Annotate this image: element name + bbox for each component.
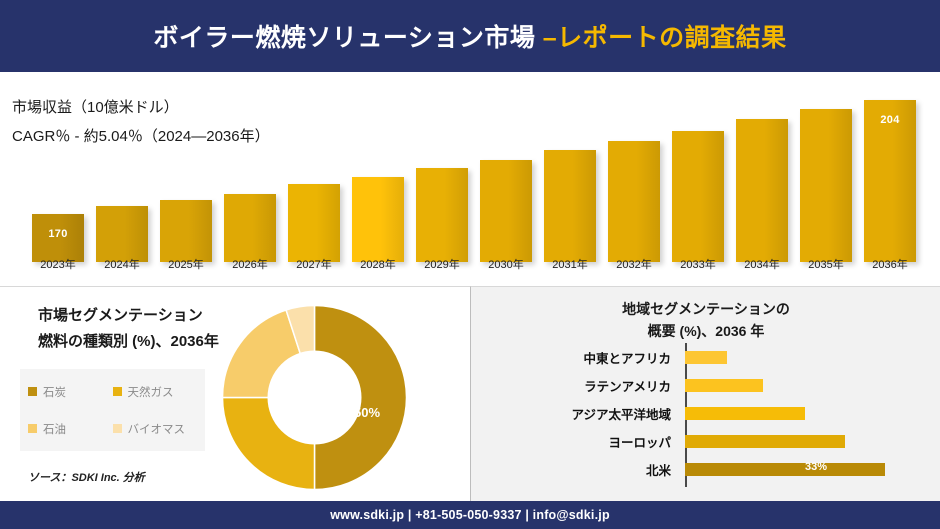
revenue-x-label: 2030年	[478, 256, 534, 272]
source-note: ソース：SDKI Inc. 分析	[28, 469, 145, 485]
revenue-bar: 204	[864, 100, 916, 262]
revenue-bar	[544, 150, 596, 262]
region-bar	[685, 379, 763, 392]
revenue-x-label: 2025年	[158, 256, 214, 272]
region-title-line2: 概要 (%)、2036 年	[471, 321, 940, 343]
revenue-bar	[608, 141, 660, 262]
revenue-bar	[672, 131, 724, 262]
page-title: ボイラー燃焼ソリューション市場 –レポートの調査結果	[153, 18, 786, 54]
region-row: アジア太平洋地域	[471, 401, 940, 425]
revenue-x-label: 2034年	[734, 256, 790, 272]
region-row: ヨーロッパ	[471, 429, 940, 453]
fuel-legend-label: 石油	[43, 421, 66, 437]
revenue-bar	[736, 119, 788, 262]
fuel-segmentation-panel: 市場セグメンテーション 燃料の種類別 (%)、2036年 石炭天然ガス石油バイオ…	[0, 286, 470, 501]
region-row: 中東とアフリカ	[471, 345, 940, 369]
legend-swatch-icon	[28, 424, 37, 433]
region-category-label: 北米	[471, 460, 679, 479]
donut-svg	[222, 305, 407, 490]
revenue-bar	[800, 109, 852, 262]
revenue-bar-column	[158, 90, 214, 262]
revenue-chart-panel: 市場収益（10億米ドル） CAGR％ - 約5.04％（2024―2036年） …	[0, 72, 940, 284]
revenue-bar-column	[670, 90, 726, 262]
revenue-bar-column: 204	[862, 90, 918, 262]
revenue-bar-column: 170	[30, 90, 86, 262]
revenue-bar	[416, 168, 468, 262]
revenue-bar-value-label: 204	[864, 114, 916, 126]
region-category-label: ラテンアメリカ	[471, 376, 679, 395]
legend-swatch-icon	[113, 424, 122, 433]
revenue-x-label: 2031年	[542, 256, 598, 272]
revenue-bar	[480, 160, 532, 262]
region-row: ラテンアメリカ	[471, 373, 940, 397]
fuel-legend-label: 天然ガス	[128, 384, 174, 400]
legend-swatch-icon	[113, 387, 122, 396]
revenue-x-label: 2035年	[798, 256, 854, 272]
revenue-x-label: 2027年	[286, 256, 342, 272]
revenue-x-axis-labels: 2023年2024年2025年2026年2027年2028年2029年2030年…	[30, 252, 918, 276]
revenue-x-label: 2032年	[606, 256, 662, 272]
region-bars-chart: 中東とアフリカラテンアメリカアジア太平洋地域ヨーロッパ北米33%	[471, 343, 940, 493]
revenue-bar	[352, 177, 404, 262]
donut-center-percent: 50%	[354, 405, 380, 420]
region-category-label: ヨーロッパ	[471, 432, 679, 451]
revenue-bar-column	[478, 90, 534, 262]
revenue-bar-value-label: 170	[32, 228, 84, 240]
region-bar	[685, 435, 845, 448]
revenue-x-label: 2029年	[414, 256, 470, 272]
revenue-bar-column	[606, 90, 662, 262]
revenue-bar-column	[94, 90, 150, 262]
fuel-legend: 石炭天然ガス石油バイオマス	[20, 369, 205, 451]
fuel-legend-item[interactable]: 石油	[28, 421, 113, 437]
revenue-bar-column	[542, 90, 598, 262]
infographic-root: ボイラー燃焼ソリューション市場 –レポートの調査結果 市場収益（10億米ドル） …	[0, 0, 940, 529]
legend-swatch-icon	[28, 387, 37, 396]
revenue-x-label: 2023年	[30, 256, 86, 272]
revenue-x-label: 2024年	[94, 256, 150, 272]
revenue-bar-column	[350, 90, 406, 262]
revenue-bars-area: 170204	[30, 90, 918, 262]
fuel-legend-label: 石炭	[43, 384, 66, 400]
region-bar-value-label: 33%	[805, 461, 827, 473]
region-bar	[685, 407, 805, 420]
region-bar: 33%	[685, 463, 885, 476]
fuel-legend-item[interactable]: バイオマス	[113, 421, 198, 437]
region-bar	[685, 351, 727, 364]
revenue-x-label: 2033年	[670, 256, 726, 272]
fuel-donut-chart: 50%	[222, 305, 407, 490]
revenue-bar-column	[798, 90, 854, 262]
page-footer: www.sdki.jp | +81-505-050-9337 | info@sd…	[0, 501, 940, 529]
revenue-x-label: 2036年	[862, 256, 918, 272]
revenue-bar-column	[286, 90, 342, 262]
fuel-legend-item[interactable]: 天然ガス	[113, 384, 198, 400]
fuel-legend-label: バイオマス	[128, 421, 186, 437]
donut-hole	[268, 351, 362, 445]
region-segmentation-title: 地域セグメンテーションの 概要 (%)、2036 年	[471, 299, 940, 342]
region-category-label: アジア太平洋地域	[471, 404, 679, 423]
footer-contact-text: www.sdki.jp | +81-505-050-9337 | info@sd…	[330, 508, 610, 522]
revenue-bar-column	[734, 90, 790, 262]
region-row: 北米33%	[471, 457, 940, 481]
revenue-bar	[288, 184, 340, 262]
revenue-bar-column	[222, 90, 278, 262]
fuel-legend-item[interactable]: 石炭	[28, 384, 113, 400]
revenue-x-label: 2026年	[222, 256, 278, 272]
page-header: ボイラー燃焼ソリューション市場 –レポートの調査結果	[0, 0, 940, 72]
region-segmentation-panel: 地域セグメンテーションの 概要 (%)、2036 年 中東とアフリカラテンアメリ…	[470, 286, 940, 501]
region-title-line1: 地域セグメンテーションの	[471, 299, 940, 321]
revenue-bar-column	[414, 90, 470, 262]
revenue-x-label: 2028年	[350, 256, 406, 272]
page-title-main: ボイラー燃焼ソリューション市場	[153, 24, 542, 52]
page-title-accent: –レポートの調査結果	[543, 24, 787, 52]
region-category-label: 中東とアフリカ	[471, 348, 679, 367]
